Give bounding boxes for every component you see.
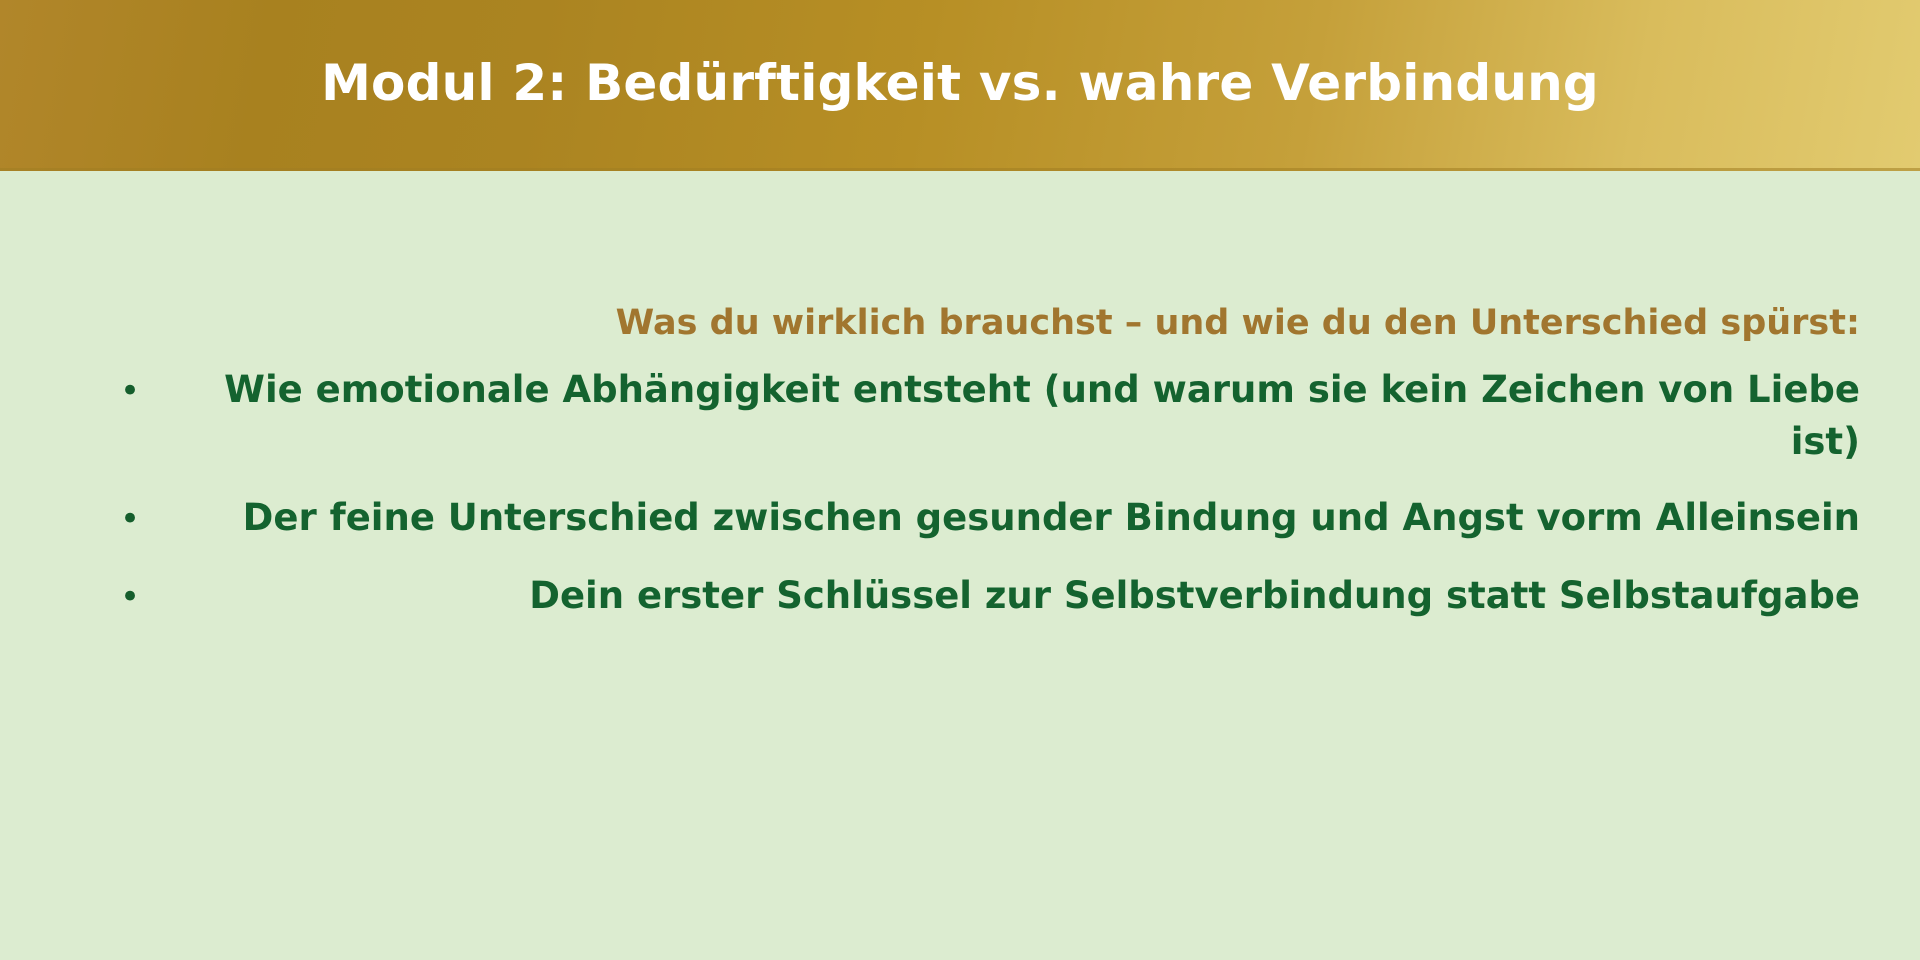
bullet-list: • Wie emotionale Abhängigkeit entsteht (…: [0, 364, 1920, 648]
bullet-item-label: Wie emotionale Abhängigkeit entsteht (un…: [178, 364, 1860, 468]
slide-header-band: Modul 2: Bedürftigkeit vs. wahre Verbind…: [0, 0, 1920, 171]
presentation-slide: Modul 2: Bedürftigkeit vs. wahre Verbind…: [0, 0, 1920, 960]
list-item: • Wie emotionale Abhängigkeit entsteht (…: [0, 364, 1920, 468]
slide-subtitle: Was du wirklich brauchst – und wie du de…: [60, 301, 1860, 345]
list-item: • Dein erster Schlüssel zur Selbstverbin…: [0, 570, 1920, 624]
bullet-point-icon: •: [120, 570, 178, 624]
bullet-point-icon: •: [120, 364, 178, 418]
bullet-item-label: Der feine Unterschied zwischen gesunder …: [178, 492, 1860, 544]
bullet-point-icon: •: [120, 492, 178, 546]
bullet-item-label: Dein erster Schlüssel zur Selbstverbindu…: [178, 570, 1860, 622]
list-item: • Der feine Unterschied zwischen gesunde…: [0, 492, 1920, 546]
slide-title: Modul 2: Bedürftigkeit vs. wahre Verbind…: [0, 52, 1920, 114]
slide-body: Was du wirklich brauchst – und wie du de…: [0, 171, 1920, 960]
